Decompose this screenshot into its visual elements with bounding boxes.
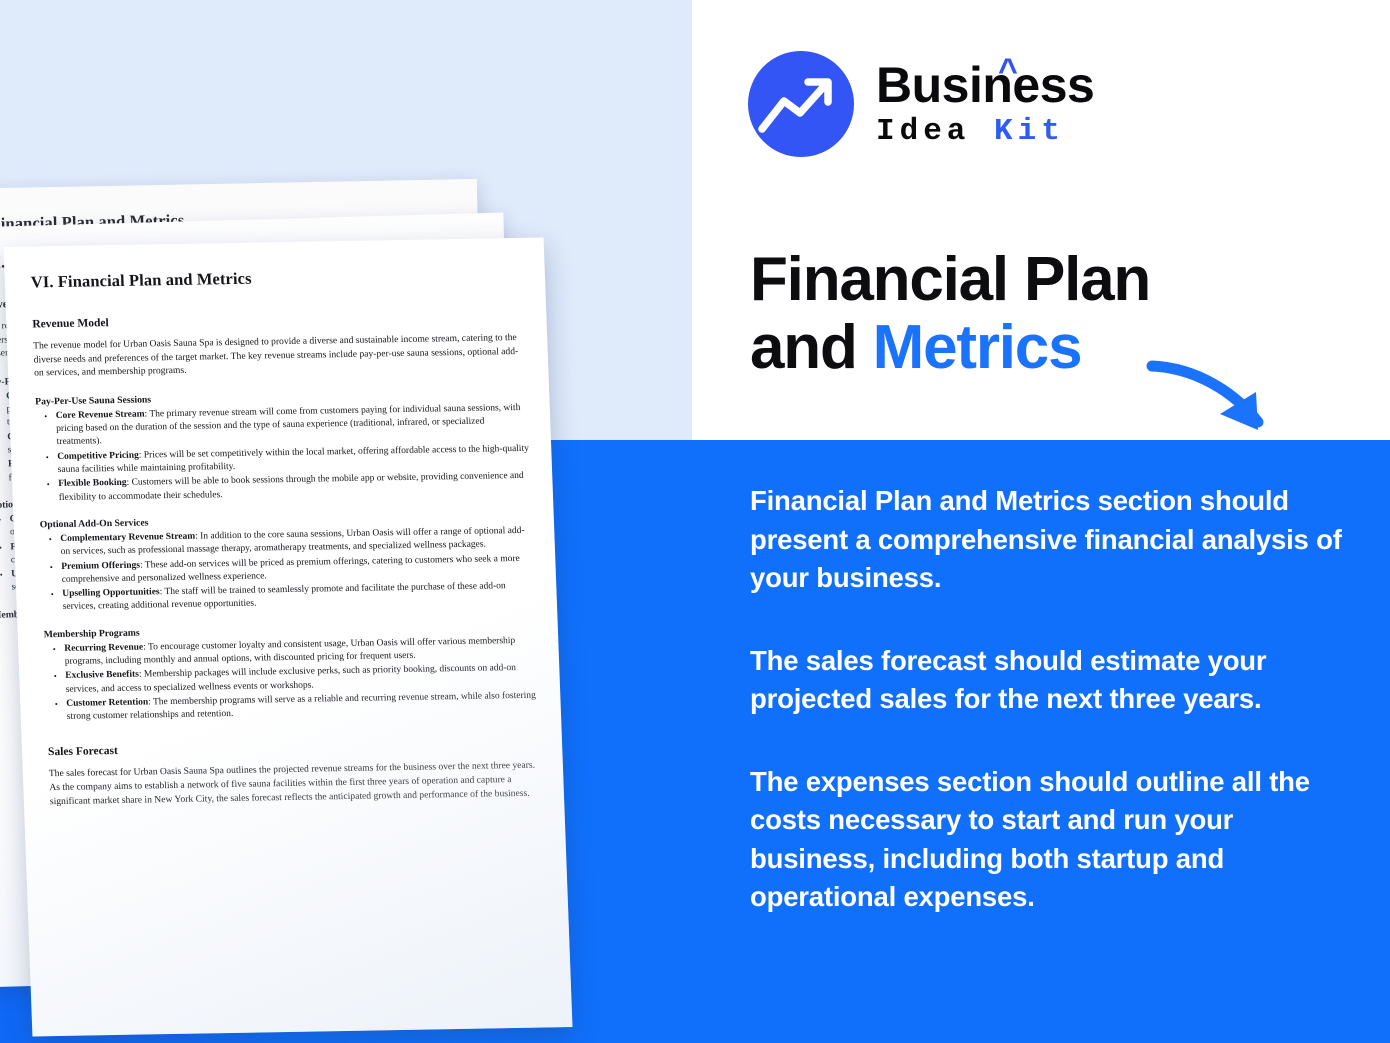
list-item: Core Revenue Stream: The primary revenue… — [56, 402, 529, 450]
bullet-label: Core Revenue Stream — [56, 409, 145, 421]
sales-forecast-heading: Sales Forecast — [48, 738, 540, 759]
brand-wordmark: Business ^ Idea Kit — [876, 60, 1094, 149]
brand-subtitle-idea: Idea — [876, 114, 970, 149]
bullet-label: Premium Offerings — [61, 560, 140, 571]
growth-arrow-icon — [748, 51, 854, 157]
brand-name-business: Business ^ — [876, 60, 1094, 110]
document-page-front: VI. Financial Plan and Metrics Revenue M… — [4, 238, 573, 1037]
curved-down-right-arrow-icon — [1146, 352, 1296, 444]
sales-forecast-paragraph: The sales forecast for Urban Oasis Sauna… — [49, 759, 543, 808]
section-bullets-pay-per-use: Core Revenue Stream: The primary revenue… — [36, 402, 531, 506]
section-bullets-membership: Recurring Revenue: To encourage customer… — [44, 634, 539, 724]
revenue-model-paragraph: The revenue model for Urban Oasis Sauna … — [33, 331, 527, 380]
bullet-label: Recurring Revenue — [64, 642, 143, 653]
revenue-model-heading: Revenue Model — [32, 310, 524, 331]
brand-logo: Business ^ Idea Kit — [748, 42, 1168, 166]
document-title: VI. Financial Plan and Metrics — [30, 264, 523, 293]
section-bullets-add-on: Complementary Revenue Stream: In additio… — [40, 525, 535, 615]
sales-forecast-block: Sales Forecast The sales forecast for Ur… — [48, 738, 542, 808]
description-paragraph-3: The expenses section should outline all … — [750, 763, 1350, 917]
brand-subtitle-kit: Kit — [994, 114, 1065, 149]
page-title-accent: Metrics — [873, 313, 1082, 382]
description-paragraph-2: The sales forecast should estimate your … — [750, 642, 1350, 719]
bullet-label: Competitive Pricing — [57, 450, 139, 461]
document-page-stack: VI. Financial Plan and Metrics Revenue M… — [0, 180, 760, 1010]
bullet-label: Upselling Opportunities — [62, 587, 160, 599]
description-text-block: Financial Plan and Metrics section shoul… — [750, 482, 1350, 917]
page-title-line-1: Financial Plan — [750, 246, 1310, 314]
page-title-line-2-prefix: and — [750, 313, 873, 382]
brand-name-text: Business — [876, 57, 1094, 113]
bullet-label: Exclusive Benefits — [65, 670, 139, 681]
brand-subtitle: Idea Kit — [876, 116, 1094, 149]
bullet-label: Complementary Revenue Stream — [60, 532, 195, 544]
description-paragraph-1: Financial Plan and Metrics section shoul… — [750, 482, 1350, 598]
bullet-label: Flexible Booking — [58, 478, 127, 489]
circumflex-accent-icon: ^ — [998, 54, 1017, 88]
document-content-front: VI. Financial Plan and Metrics Revenue M… — [30, 264, 542, 825]
slide-canvas: VI. Financial Plan and Metrics Revenue M… — [0, 0, 1390, 1043]
bullet-label: Customer Retention — [66, 697, 148, 708]
